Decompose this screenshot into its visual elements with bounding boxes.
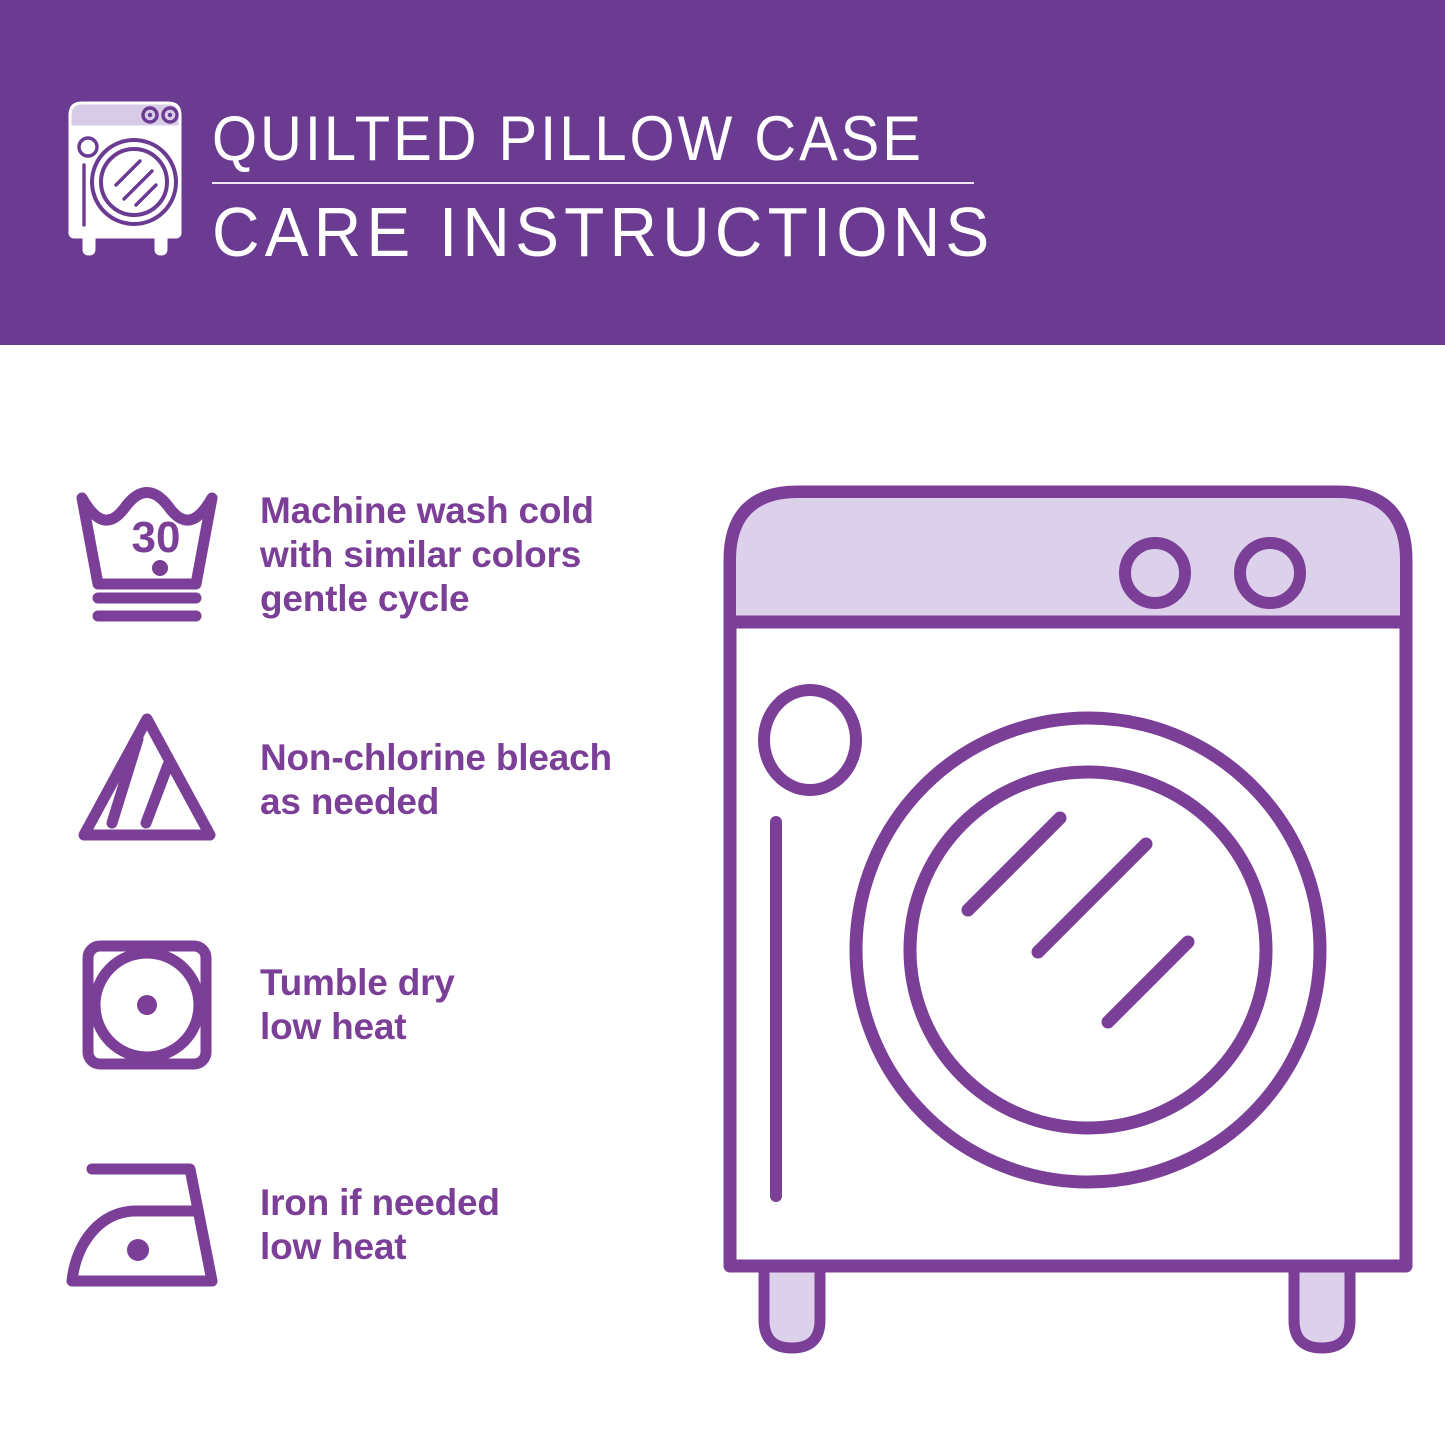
washing-machine-logo-icon <box>62 97 188 257</box>
care-row: Non-chlorine bleach as needed <box>0 690 700 870</box>
tumble-dry-low-icon <box>62 930 232 1080</box>
machine-wash-30-gentle-icon: 30 <box>62 480 232 630</box>
washing-machine-illustration <box>718 470 1418 1370</box>
iron-low-heat-icon <box>62 1155 232 1295</box>
header-text-block: QUILTED PILLOW CASE CARE INSTRUCTIONS <box>212 100 1002 274</box>
care-instructions-infographic: QUILTED PILLOW CASE CARE INSTRUCTIONS <box>0 0 1445 1445</box>
product-title: QUILTED PILLOW CASE <box>212 100 939 178</box>
header-divider <box>212 182 974 184</box>
washer-foot <box>764 1260 1350 1348</box>
header-banner: QUILTED PILLOW CASE CARE INSTRUCTIONS <box>0 0 1445 345</box>
care-row-label: Tumble dry low heat <box>260 961 700 1049</box>
care-row-label: Non-chlorine bleach as needed <box>260 736 700 824</box>
wash-temp-label: 30 <box>132 513 181 562</box>
care-instruction-list: 30 Machine wash cold with similar colors… <box>0 345 700 1445</box>
care-row: Iron if needed low heat <box>0 1135 700 1315</box>
non-chlorine-bleach-icon <box>62 705 232 855</box>
care-row: 30 Machine wash cold with similar colors… <box>0 465 700 645</box>
care-row: Tumble dry low heat <box>0 915 700 1095</box>
care-row-label: Machine wash cold with similar colors ge… <box>260 489 700 621</box>
care-row-label: Iron if needed low heat <box>260 1181 700 1269</box>
page-title: CARE INSTRUCTIONS <box>212 190 955 274</box>
